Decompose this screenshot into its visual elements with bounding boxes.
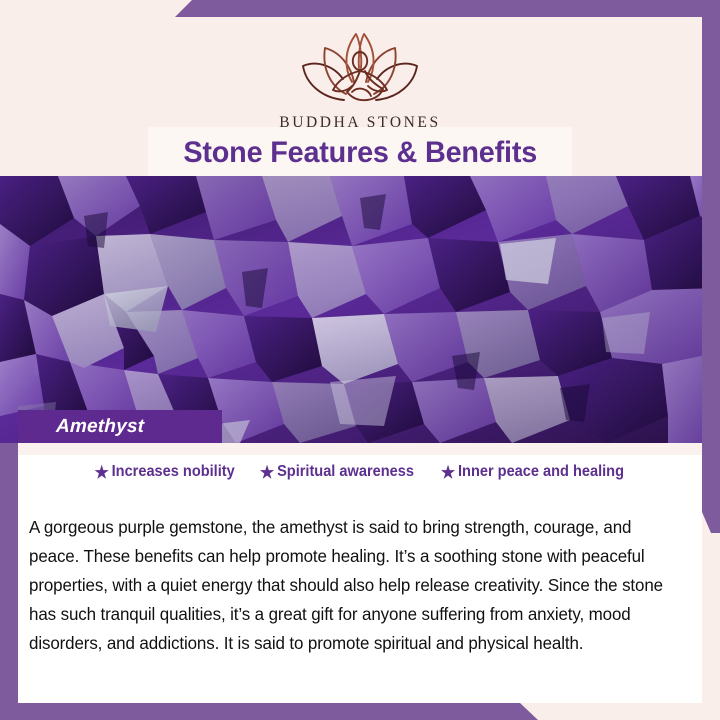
amethyst-crystal-photo xyxy=(0,176,720,443)
frame-bottom-band xyxy=(0,703,720,720)
page-title: Stone Features & Benefits xyxy=(183,136,537,170)
star-icon: ★ xyxy=(441,464,455,481)
hero-image xyxy=(0,176,720,443)
frame-left-band xyxy=(0,443,18,720)
content-top-tint xyxy=(18,443,702,455)
stone-name: Amethyst xyxy=(56,416,145,438)
lotus-meditation-icon xyxy=(286,22,434,110)
benefit-label: Spiritual awareness xyxy=(277,463,414,481)
benefits-list: ★ Increases nobility ★ Spiritual awarene… xyxy=(18,463,702,481)
content-section: ★ Increases nobility ★ Spiritual awarene… xyxy=(18,443,702,703)
stone-name-badge: Amethyst xyxy=(18,410,222,443)
benefit-item-1: ★ Increases nobility xyxy=(95,463,235,481)
benefit-item-2: ★ Spiritual awareness xyxy=(260,463,414,481)
benefit-item-3: ★ Inner peace and healing xyxy=(441,463,624,481)
benefit-label: Increases nobility xyxy=(112,463,235,481)
benefit-label: Inner peace and healing xyxy=(458,463,624,481)
star-icon: ★ xyxy=(95,464,109,481)
infographic-page: BUDDHA STONES Stone Features & Benefits xyxy=(0,0,720,720)
frame-right-band xyxy=(702,0,720,533)
description-paragraph: A gorgeous purple gemstone, the amethyst… xyxy=(29,513,678,658)
page-title-panel: Stone Features & Benefits xyxy=(148,127,572,178)
star-icon: ★ xyxy=(260,464,274,481)
header-section: BUDDHA STONES Stone Features & Benefits xyxy=(0,0,720,178)
brand-logo: BUDDHA STONES xyxy=(0,22,720,132)
